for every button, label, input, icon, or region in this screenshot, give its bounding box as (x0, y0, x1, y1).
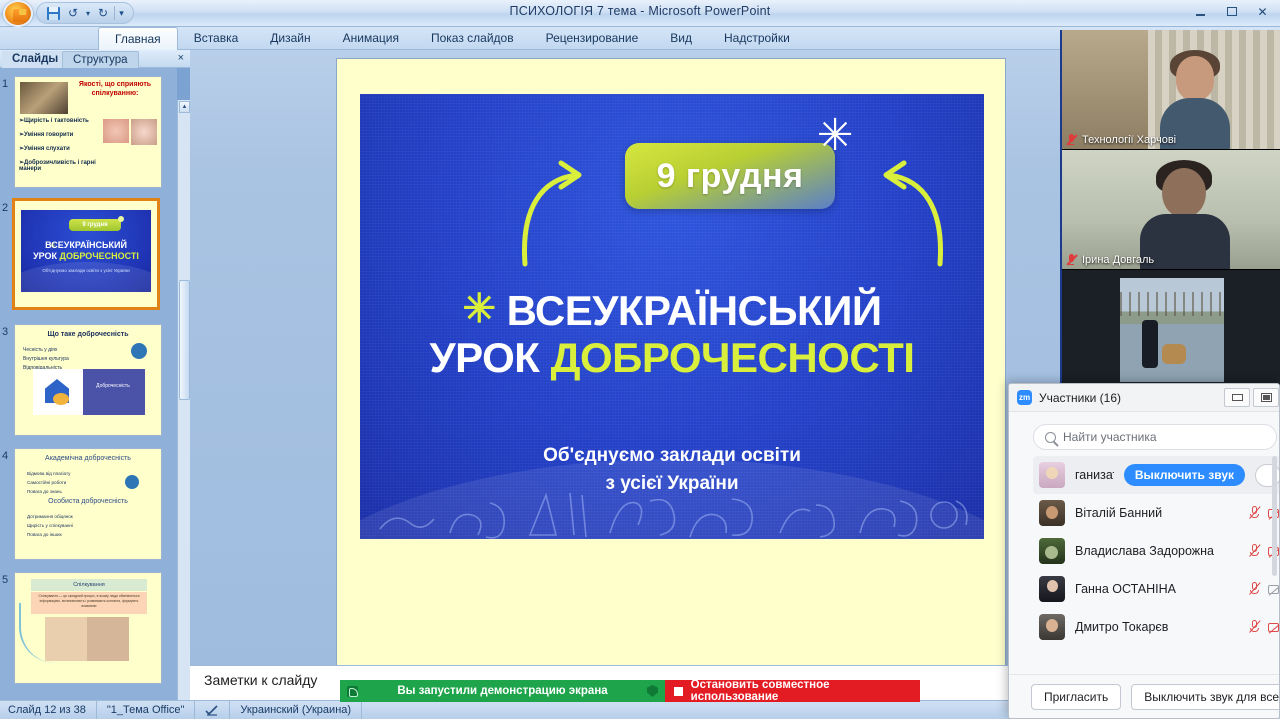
participant-row-host[interactable]: ганизатор, я) Выключить звук (1033, 456, 1280, 494)
participant-name: ганизатор, я) (1075, 468, 1114, 482)
title-bar: ↺ ▾ ↻ ▾ ПСИХОЛОГІЯ 7 тема - Microsoft Po… (0, 0, 1280, 27)
thumbnail-title-line1: ВСЕУКРАЇНСЬКИЙ (21, 240, 151, 250)
tab-addins[interactable]: Надстройки (708, 27, 806, 50)
slide-thumbnail-4[interactable]: Академічна доброчесність Відмова від пла… (14, 448, 162, 560)
list-item[interactable]: 3 Що таке доброчесність Чесність у діях … (0, 322, 177, 440)
mic-muted-icon (1248, 544, 1261, 558)
mic-muted-icon (1248, 506, 1261, 520)
thumbnail-bullet: ➢Щирість і тактовність (19, 117, 89, 124)
video-thumbnail-strip: Технології Харчові Ірина Довгаль (1060, 30, 1280, 390)
participant-row[interactable]: Ганна ОСТАНІНА (1033, 570, 1280, 608)
asterisk-icon: ✳ (462, 287, 495, 331)
avatar (1039, 538, 1065, 564)
scroll-up-icon[interactable]: ▲ (179, 101, 190, 113)
mute-all-button[interactable]: Выключить звук для всех (1131, 684, 1280, 710)
thumbnail-title-line2: УРОК ДОБРОЧЕСНОСТІ (21, 251, 151, 261)
tab-view[interactable]: Вид (654, 27, 708, 50)
thumbnail-bullet: Щирість у спілкуванні (27, 523, 73, 528)
sharing-status-bar[interactable]: Вы запустили демонстрацию экрана (340, 680, 665, 702)
minimize-button[interactable] (1187, 2, 1214, 21)
slide-number: 2 (2, 202, 8, 214)
right-arrow-icon (880, 149, 950, 269)
pane-tab-outline[interactable]: Структура (62, 51, 139, 68)
invite-button[interactable]: Пригласить (1031, 684, 1121, 710)
thumbnail-bullet: Чесність у діях (23, 347, 57, 353)
ribbon-tabs: Главная Вставка Дизайн Анимация Показ сл… (98, 27, 806, 50)
thumbnail-photo (131, 119, 157, 145)
thumbnail-bullet: ➢Уміння слухати (19, 145, 70, 152)
window-controls: ✕ (1187, 2, 1276, 21)
doodle-decoration (360, 483, 984, 539)
slide-thumbnail-2[interactable]: 9 грудня ✳ ВСЕУКРАЇНСЬКИЙ УРОК ДОБРОЧЕСН… (12, 198, 160, 310)
slide-number: 3 (2, 326, 8, 338)
thumbnail-sparkle-icon (118, 216, 124, 222)
thumbnail-date-badge: 9 грудня (69, 219, 121, 231)
mic-muted-icon (1248, 582, 1261, 596)
phone-icon (347, 686, 358, 697)
current-slide[interactable]: 9 грудня ✳ ✳ ВСЕУКРАЇНСЬКИЙ УРОК ДОБРОЧЕ… (336, 58, 1006, 698)
mic-muted-icon (1066, 134, 1077, 146)
slide-thumbnail-5[interactable]: Спілкування Спілкування — це складний пр… (14, 572, 162, 684)
mic-muted-icon (1248, 620, 1261, 634)
tab-insert[interactable]: Вставка (178, 27, 255, 50)
thumbnail-image-label: Доброчесність (85, 383, 141, 389)
participants-window-controls (1224, 388, 1279, 407)
participants-title: Участники (16) (1039, 391, 1121, 405)
camera-off-icon (1268, 584, 1280, 595)
tab-review[interactable]: Рецензирование (530, 27, 655, 50)
slide-number: 1 (2, 78, 8, 90)
participants-footer: Пригласить Выключить звук для всех (1009, 674, 1280, 718)
thumbnail-image: Доброчесність (33, 369, 145, 415)
thumbnail-title: Якості, що сприяють спілкуванню: (71, 80, 159, 98)
tab-home[interactable]: Главная (98, 27, 178, 50)
tab-animation[interactable]: Анимация (327, 27, 415, 50)
window-title: ПСИХОЛОГІЯ 7 тема - Microsoft PowerPoint (0, 4, 1280, 18)
avatar (1039, 500, 1065, 526)
thumbnail-bullet: Внутрішня культура (23, 356, 69, 362)
list-item[interactable]: 5 Спілкування Спілкування — це складний … (0, 570, 177, 688)
date-badge: 9 грудня (625, 143, 835, 209)
sharing-status-text: Вы запустили демонстрацию экрана (366, 685, 639, 697)
slide-title-line2: УРОК ДОБРОЧЕСНОСТІ (360, 334, 984, 382)
slides-pane: Слайды Структура × 1 Якості, що сприяють… (0, 50, 190, 700)
stop-square-icon (674, 687, 683, 696)
thumbnail-bullet: ➢Доброзичливість і гарні манери (19, 159, 119, 172)
slide-background: 9 грудня ✳ ✳ ВСЕУКРАЇНСЬКИЙ УРОК ДОБРОЧЕ… (360, 94, 984, 539)
maximize-button[interactable] (1218, 2, 1245, 21)
thumbnail-bullet: Відмова від плагіату (27, 471, 70, 476)
thumbnail-scrollbar[interactable]: ▲ ▼ (177, 100, 190, 719)
slide-title-line1: ✳ ВСЕУКРАЇНСЬКИЙ (360, 286, 984, 335)
thumbnail-photo (103, 119, 129, 143)
slide-number: 4 (2, 450, 8, 462)
participant-row[interactable]: Віталій Банний (1033, 494, 1280, 532)
mic-muted-icon (1066, 254, 1077, 266)
close-pane-icon[interactable]: × (178, 52, 184, 64)
date-badge-text: 9 грудня (657, 157, 804, 196)
camera-off-icon (1268, 622, 1280, 633)
language-indicator[interactable]: Украинский (Украина) (230, 701, 362, 719)
close-button[interactable]: ✕ (1249, 2, 1276, 21)
search-icon (1045, 432, 1056, 443)
thumbnail-body: Спілкування — це складний процес, в яком… (31, 592, 147, 614)
video-tile-2[interactable]: Ірина Довгаль (1062, 150, 1280, 270)
slide-thumbnail-1[interactable]: Якості, що сприяють спілкуванню: ➢Щиріст… (14, 76, 162, 188)
thumbnail-photo (45, 617, 129, 661)
participants-list[interactable]: ганизатор, я) Выключить звук Віталій Бан… (1033, 456, 1280, 652)
thumbnail-title: Спілкування (31, 579, 147, 591)
video-tile-name: Ірина Довгаль (1082, 254, 1154, 266)
spell-check-icon[interactable] (195, 701, 230, 719)
search-placeholder: Найти участника (1063, 430, 1157, 444)
thumbnail-bullet: Повага до інших (27, 532, 62, 537)
screen-share-toolbar: Вы запустили демонстрацию экрана Останов… (340, 680, 920, 702)
left-arrow-icon (515, 149, 585, 269)
avatar (1039, 614, 1065, 640)
notes-placeholder: Заметки к слайду (204, 672, 317, 688)
thumbnail-photo (20, 82, 68, 114)
stop-share-label: Остановить совместное использование (691, 679, 911, 703)
thumbnail-title: Що таке доброчесність (15, 331, 161, 338)
participants-scrollbar[interactable] (1272, 456, 1277, 576)
participant-row[interactable]: Іванна Ангеліна (1033, 646, 1280, 652)
avatar (1039, 576, 1065, 602)
participant-row[interactable]: Дмитро Токарєв (1033, 608, 1280, 646)
search-participant-input[interactable]: Найти участника (1033, 424, 1277, 450)
slide-thumbnail-3[interactable]: Що таке доброчесність Чесність у діях Вн… (14, 324, 162, 436)
participants-title-bar: zm Участники (16) (1009, 384, 1280, 412)
thumbnail-bullet: Дотримання обіцянок (27, 514, 73, 519)
thumbnail-circle-shape (131, 343, 147, 359)
thumbnail-list[interactable]: 1 Якості, що сприяють спілкуванню: ➢Щирі… (0, 68, 177, 700)
pane-tab-slides[interactable]: Слайды (2, 51, 68, 68)
thumbnail-bullet: ➢Уміння говорити (19, 131, 73, 138)
zoom-logo-icon: zm (1017, 390, 1032, 405)
video-tile-1[interactable]: Технології Харчові (1062, 30, 1280, 150)
sparkle-icon: ✳ (815, 116, 855, 156)
stop-share-button[interactable]: Остановить совместное использование (665, 680, 920, 702)
video-tile-name-row: Технології Харчові (1066, 134, 1176, 146)
minimize-icon[interactable] (1224, 388, 1250, 407)
list-item[interactable]: 4 Академічна доброчесність Відмова від п… (0, 446, 177, 564)
thumbnail-bullet: Самостійні роботи (27, 480, 66, 485)
tab-slideshow[interactable]: Показ слайдов (415, 27, 530, 50)
mute-participant-button[interactable]: Выключить звук (1124, 464, 1245, 486)
shield-icon (647, 685, 658, 697)
participant-row[interactable]: Владислава Задорожна (1033, 532, 1280, 570)
thumbnail-title: Академічна доброчесність (15, 455, 161, 462)
thumbnail-subtitle: Особиста доброчесність (15, 498, 161, 505)
participants-window: zm Участники (16) Найти участника ганиза… (1008, 383, 1280, 719)
video-tile-3[interactable] (1062, 270, 1280, 390)
thumbnail-bullet: Повага до знань (27, 489, 62, 494)
tab-design[interactable]: Дизайн (254, 27, 326, 50)
avatar (1039, 462, 1065, 488)
video-tile-name: Технології Харчові (1082, 134, 1176, 146)
list-item[interactable]: 1 Якості, що сприяють спілкуванню: ➢Щирі… (0, 74, 177, 192)
list-item[interactable]: 2 9 грудня ✳ ВСЕУКРАЇНСЬКИЙ УРОК ДОБРОЧЕ… (0, 198, 177, 316)
slide-number: 5 (2, 574, 8, 586)
thumbnail-circle-shape (125, 475, 139, 489)
theme-name[interactable]: "1_Тема Office" (97, 701, 196, 719)
pane-tab-bar: Слайды Структура × (0, 50, 190, 68)
scrollbar-thumb[interactable] (179, 280, 190, 400)
slide-counter[interactable]: Слайд 12 из 38 (0, 701, 97, 719)
video-tile-name-row: Ірина Довгаль (1066, 254, 1154, 266)
restore-icon[interactable] (1253, 388, 1279, 407)
